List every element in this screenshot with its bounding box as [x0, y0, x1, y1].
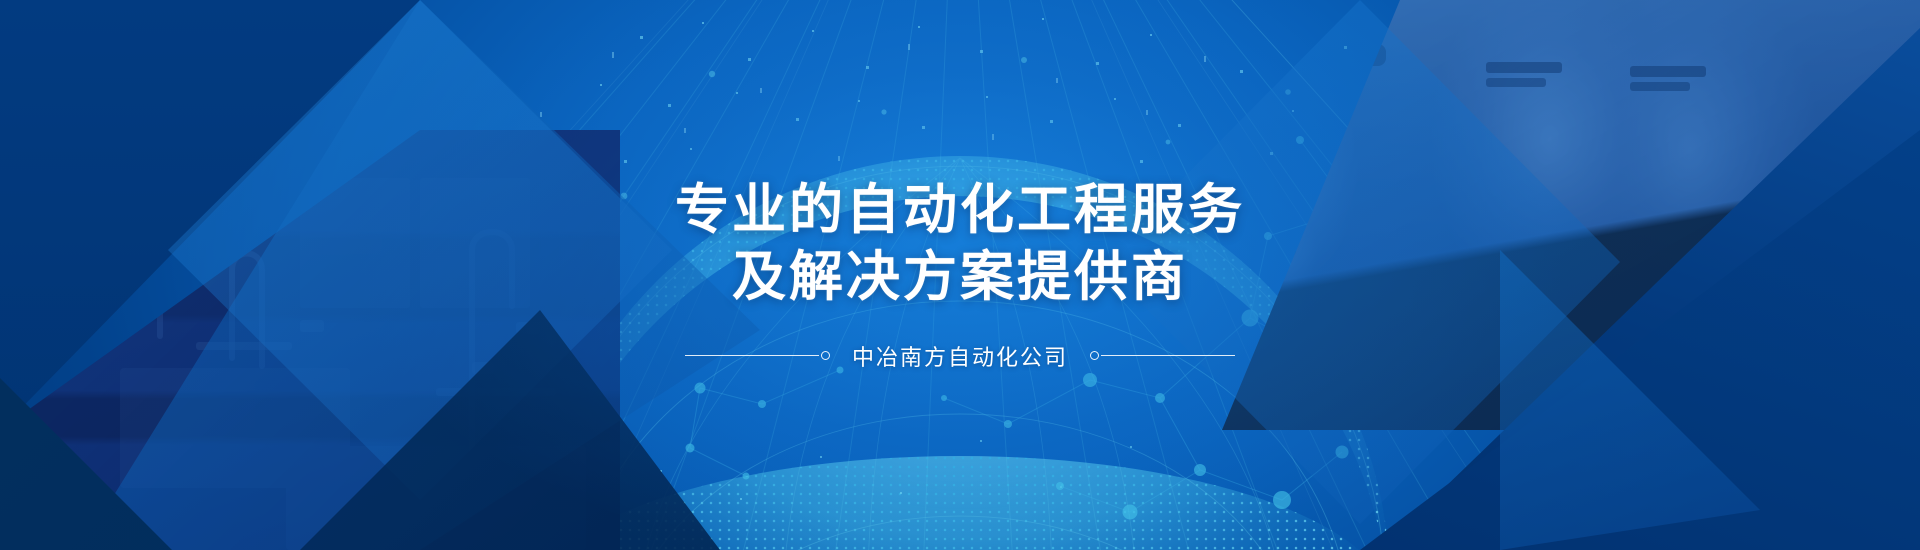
hero-banner: 专业的自动化工程服务 及解决方案提供商 中冶南方自动化公司	[0, 0, 1920, 550]
right-circle-marker-icon	[1090, 351, 1099, 360]
headline-line-1: 专业的自动化工程服务	[675, 178, 1245, 243]
banner-subtitle-row: 中冶南方自动化公司	[685, 340, 1235, 372]
banner-headline: 专业的自动化工程服务 及解决方案提供商	[675, 178, 1245, 310]
right-rule	[1101, 355, 1235, 356]
headline-line-2: 及解决方案提供商	[675, 245, 1245, 310]
banner-subtitle: 中冶南方自动化公司	[830, 340, 1090, 372]
banner-content: 专业的自动化工程服务 及解决方案提供商 中冶南方自动化公司	[0, 0, 1920, 550]
left-rule	[685, 355, 819, 356]
left-circle-marker-icon	[821, 351, 830, 360]
